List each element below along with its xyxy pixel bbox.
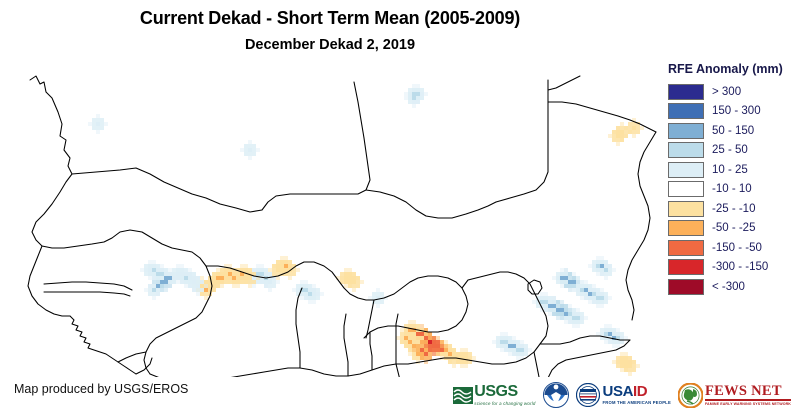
anomaly-cell (344, 280, 348, 284)
legend-label: -300 - -150 (712, 261, 768, 273)
legend-swatch (668, 181, 704, 197)
anomaly-cell (212, 280, 216, 284)
anomaly-cell (144, 288, 148, 292)
anomaly-cell (584, 280, 588, 284)
anomaly-cell (164, 268, 168, 272)
anomaly-cell (216, 284, 220, 288)
anomaly-cell (624, 126, 628, 130)
anomaly-cell (428, 344, 432, 348)
anomaly-cell (604, 292, 608, 296)
anomaly-cell (512, 352, 516, 356)
anomaly-cell (616, 130, 620, 134)
anomaly-cell (160, 284, 164, 288)
anomaly-cell (500, 336, 504, 340)
anomaly-cell (256, 280, 260, 284)
anomaly-cell (192, 288, 196, 292)
anomaly-cell (600, 260, 604, 264)
anomaly-cell (616, 364, 620, 368)
usaid-wordmark-id: ID (633, 384, 647, 399)
anomaly-cell (588, 296, 592, 300)
anomaly-cell (420, 348, 424, 352)
usgs-wordmark: USGS (474, 384, 535, 400)
anomaly-cell (192, 284, 196, 288)
anomaly-cell (276, 268, 280, 272)
anomaly-cell (420, 340, 424, 344)
anomaly-cell (516, 348, 520, 352)
anomaly-cell (96, 130, 100, 134)
anomaly-cell (156, 264, 160, 268)
anomaly-cell (412, 92, 416, 96)
anomaly-cell (164, 280, 168, 284)
anomaly-cell (628, 364, 632, 368)
anomaly-cell (584, 316, 588, 320)
anomaly-cell (376, 304, 380, 308)
anomaly-cell (508, 344, 512, 348)
anomaly-cell (464, 348, 468, 352)
anomaly-cell (636, 364, 640, 368)
anomaly-cell (312, 288, 316, 292)
anomaly-cell (416, 348, 420, 352)
anomaly-cell (224, 276, 228, 280)
anomaly-cell (220, 268, 224, 272)
anomaly-cell (352, 288, 356, 292)
anomaly-cell (248, 280, 252, 284)
anomaly-cell (520, 344, 524, 348)
anomaly-cell (188, 280, 192, 284)
anomaly-cell (456, 360, 460, 364)
anomaly-cell (412, 100, 416, 104)
agency-logos: USGS science for a changing world (453, 379, 791, 411)
anomaly-cell (372, 292, 376, 296)
anomaly-cell (424, 340, 428, 344)
anomaly-cell (268, 288, 272, 292)
anomaly-cell (616, 344, 620, 348)
anomaly-cell (212, 272, 216, 276)
anomaly-cell (200, 280, 204, 284)
anomaly-cell (440, 352, 444, 356)
map-canvas[interactable] (0, 62, 660, 377)
anomaly-cell (292, 288, 296, 292)
anomaly-cell (608, 332, 612, 336)
anomaly-cell (180, 264, 184, 268)
anomaly-cell (216, 276, 220, 280)
anomaly-cell (412, 96, 416, 100)
anomaly-cell (496, 336, 500, 340)
anomaly-cell (564, 308, 568, 312)
anomaly-cell (376, 300, 380, 304)
fews-net-logo[interactable]: FEWS NET FAMINE EARLY WARNING SYSTEMS NE… (678, 380, 791, 410)
anomaly-cell (576, 316, 580, 320)
anomaly-cell (192, 276, 196, 280)
anomaly-cell (436, 352, 440, 356)
anomaly-cell (576, 320, 580, 324)
anomaly-cell (464, 364, 468, 368)
anomaly-cell (432, 344, 436, 348)
legend-label: -50 - -25 (712, 222, 755, 234)
anomaly-cell (436, 336, 440, 340)
anomaly-cell (416, 84, 420, 88)
anomaly-cell (600, 328, 604, 332)
anomaly-cell (160, 280, 164, 284)
anomaly-cell (164, 284, 168, 288)
anomaly-cell (620, 364, 624, 368)
anomaly-cell (276, 264, 280, 268)
anomaly-cell (448, 344, 452, 348)
anomaly-cell (604, 264, 608, 268)
anomaly-cell (468, 356, 472, 360)
anomaly-cell (620, 122, 624, 126)
anomaly-cell (288, 272, 292, 276)
anomaly-cell (256, 264, 260, 268)
anomaly-cell (344, 276, 348, 280)
anomaly-cell (416, 100, 420, 104)
anomaly-cell (584, 284, 588, 288)
noaa-logo[interactable] (543, 380, 569, 410)
anomaly-cell (400, 328, 404, 332)
anomaly-cell (92, 126, 96, 130)
anomaly-cell (552, 300, 556, 304)
anomaly-cell (300, 296, 304, 300)
anomaly-cell (580, 284, 584, 288)
anomaly-cell (176, 280, 180, 284)
anomaly-cell (148, 292, 152, 296)
anomaly-cell (156, 268, 160, 272)
usaid-logo[interactable]: USAID FROM THE AMERICAN PEOPLE (576, 380, 671, 410)
anomaly-cell (620, 130, 624, 134)
anomaly-cell (152, 296, 156, 300)
anomaly-cell (204, 284, 208, 288)
anomaly-cell (220, 280, 224, 284)
anomaly-cell (604, 324, 608, 328)
anomaly-cell (400, 336, 404, 340)
anomaly-cell (244, 280, 248, 284)
anomaly-cell (296, 268, 300, 272)
anomaly-cell (312, 292, 316, 296)
anomaly-cell (512, 336, 516, 340)
anomaly-cell (560, 272, 564, 276)
anomaly-cell (572, 276, 576, 280)
anomaly-cell (508, 336, 512, 340)
anomaly-cell (592, 284, 596, 288)
anomaly-cell (200, 284, 204, 288)
anomaly-cell (320, 292, 324, 296)
anomaly-cell (620, 368, 624, 372)
anomaly-cell (424, 332, 428, 336)
anomaly-cell (428, 348, 432, 352)
anomaly-cell (184, 280, 188, 284)
anomaly-cell (152, 268, 156, 272)
anomaly-cell (596, 332, 600, 336)
anomaly-cell (408, 92, 412, 96)
anomaly-cell (312, 296, 316, 300)
anomaly-cell (624, 352, 628, 356)
anomaly-cell (624, 336, 628, 340)
anomaly-cell (564, 280, 568, 284)
anomaly-cell (572, 280, 576, 284)
anomaly-cell (168, 268, 172, 272)
anomaly-cell (612, 340, 616, 344)
anomaly-cell (576, 308, 580, 312)
usaid-wordmark-usa: USA (603, 384, 633, 399)
anomaly-cell (228, 276, 232, 280)
anomaly-cell (408, 324, 412, 328)
anomaly-cell (524, 348, 528, 352)
anomaly-cell (272, 284, 276, 288)
anomaly-cell (572, 284, 576, 288)
anomaly-cell (260, 272, 264, 276)
anomaly-cell (232, 284, 236, 288)
anomaly-cell (348, 284, 352, 288)
anomaly-cell (576, 324, 580, 328)
anomaly-cell (288, 260, 292, 264)
anomaly-cell (616, 340, 620, 344)
anomaly-cell (632, 368, 636, 372)
anomaly-cell (556, 280, 560, 284)
anomaly-cell (568, 320, 572, 324)
anomaly-cell (560, 308, 564, 312)
anomaly-cell (196, 284, 200, 288)
anomaly-cell (148, 264, 152, 268)
anomaly-cell (568, 308, 572, 312)
anomaly-cell (568, 312, 572, 316)
anomaly-cell (152, 288, 156, 292)
anomaly-cell (548, 304, 552, 308)
anomaly-cell (300, 284, 304, 288)
anomaly-cell (552, 276, 556, 280)
anomaly-cell (516, 352, 520, 356)
anomaly-cell (148, 276, 152, 280)
anomaly-cell (188, 272, 192, 276)
anomaly-cell (420, 96, 424, 100)
anomaly-cell (604, 296, 608, 300)
anomaly-cell (244, 268, 248, 272)
fews-divider (705, 399, 791, 401)
anomaly-cell (600, 256, 604, 260)
anomaly-cell (216, 272, 220, 276)
anomaly-cell (568, 316, 572, 320)
anomaly-cell (568, 276, 572, 280)
anomaly-cell (616, 126, 620, 130)
anomaly-cell (608, 328, 612, 332)
anomaly-cell (508, 352, 512, 356)
usaid-tagline: FROM THE AMERICAN PEOPLE (603, 401, 671, 405)
anomaly-cell (100, 122, 104, 126)
legend-swatch (668, 279, 704, 295)
anomaly-cell (188, 284, 192, 288)
anomaly-cell (304, 292, 308, 296)
anomaly-cell (572, 316, 576, 320)
anomaly-cell (424, 356, 428, 360)
anomaly-cell (608, 324, 612, 328)
anomaly-cell (148, 288, 152, 292)
anomaly-cell (264, 280, 268, 284)
anomaly-cell (560, 284, 564, 288)
anomaly-cell (284, 260, 288, 264)
fews-tagline: FAMINE EARLY WARNING SYSTEMS NETWORK (705, 403, 791, 407)
anomaly-cell (416, 332, 420, 336)
rfe-anomaly-map-page: Current Dekad - Short Term Mean (2005-20… (0, 0, 797, 413)
anomaly-cell (252, 148, 256, 152)
anomaly-cell (280, 268, 284, 272)
anomaly-cell (432, 336, 436, 340)
anomaly-cell (596, 296, 600, 300)
anomaly-cell (556, 272, 560, 276)
anomaly-cell (168, 276, 172, 280)
anomaly-cell (248, 140, 252, 144)
anomaly-cell (264, 284, 268, 288)
anomaly-cell (448, 348, 452, 352)
anomaly-cell (504, 340, 508, 344)
anomaly-cell (624, 364, 628, 368)
page-title: Current Dekad - Short Term Mean (2005-20… (0, 8, 660, 29)
legend-swatch (668, 240, 704, 256)
anomaly-cell (620, 352, 624, 356)
usgs-logo[interactable]: USGS science for a changing world (453, 380, 535, 410)
anomaly-cell (248, 152, 252, 156)
anomaly-cell (280, 264, 284, 268)
anomaly-cell (408, 336, 412, 340)
anomaly-cell (164, 288, 168, 292)
anomaly-cell (144, 272, 148, 276)
anomaly-cell (620, 356, 624, 360)
legend-row: > 300 (662, 82, 797, 102)
anomaly-cell (592, 292, 596, 296)
anomaly-cell (396, 336, 400, 340)
anomaly-cell (576, 288, 580, 292)
anomaly-cell (156, 276, 160, 280)
anomaly-cell (152, 292, 156, 296)
anomaly-cell (552, 308, 556, 312)
anomaly-cell (188, 276, 192, 280)
anomaly-cell (500, 344, 504, 348)
anomaly-cell (516, 340, 520, 344)
anomaly-cell (304, 280, 308, 284)
anomaly-cell (424, 92, 428, 96)
anomaly-cell (620, 336, 624, 340)
anomaly-cell (568, 272, 572, 276)
anomaly-cell (436, 344, 440, 348)
anomaly-cell (420, 352, 424, 356)
anomaly-cell (632, 134, 636, 138)
anomaly-cell (444, 352, 448, 356)
usaid-seal-icon (576, 383, 600, 407)
anomaly-cell (620, 360, 624, 364)
anomaly-cell (144, 268, 148, 272)
anomaly-cell (416, 88, 420, 92)
anomaly-cell (412, 344, 416, 348)
anomaly-cell (220, 284, 224, 288)
anomaly-cell (356, 280, 360, 284)
anomaly-cell (556, 308, 560, 312)
anomaly-cell (544, 296, 548, 300)
anomaly-cell (620, 134, 624, 138)
anomaly-cell (156, 284, 160, 288)
anomaly-cell (528, 348, 532, 352)
anomaly-cell (344, 272, 348, 276)
anomaly-cell (216, 280, 220, 284)
anomaly-cell (400, 340, 404, 344)
anomaly-cell (408, 96, 412, 100)
anomaly-cell (184, 284, 188, 288)
legend-label: -150 - -50 (712, 242, 762, 254)
anomaly-cell (452, 352, 456, 356)
anomaly-cell (620, 126, 624, 130)
anomaly-cell (556, 276, 560, 280)
anomaly-cell (368, 296, 372, 300)
anomaly-cell (592, 260, 596, 264)
anomaly-cell (256, 148, 260, 152)
anomaly-cell (416, 336, 420, 340)
anomaly-cell (608, 340, 612, 344)
anomaly-cell (420, 92, 424, 96)
anomaly-cell (316, 296, 320, 300)
anomaly-cell (616, 360, 620, 364)
anomaly-cell (356, 276, 360, 280)
anomaly-cell (224, 272, 228, 276)
anomaly-cell (600, 288, 604, 292)
anomaly-cell (260, 280, 264, 284)
anomaly-cell (284, 264, 288, 268)
anomaly-cell (560, 316, 564, 320)
anomaly-cell (152, 284, 156, 288)
anomaly-cell (408, 348, 412, 352)
anomaly-cell (340, 272, 344, 276)
map-legend: RFE Anomaly (mm) > 300150 - 30050 - 1502… (662, 62, 797, 307)
anomaly-cell (460, 348, 464, 352)
anomaly-cell (240, 264, 244, 268)
anomaly-cell (504, 344, 508, 348)
anomaly-cell (612, 344, 616, 348)
anomaly-cell (348, 280, 352, 284)
anomaly-cell (172, 280, 176, 284)
anomaly-cell (596, 268, 600, 272)
anomaly-cell (424, 336, 428, 340)
anomaly-cell (548, 308, 552, 312)
anomaly-cell (240, 148, 244, 152)
anomaly-cell (572, 288, 576, 292)
anomaly-cell (248, 268, 252, 272)
anomaly-cell (288, 276, 292, 280)
anomaly-cell (548, 296, 552, 300)
anomaly-cell (544, 300, 548, 304)
anomaly-cell (172, 276, 176, 280)
anomaly-cell (100, 126, 104, 130)
anomaly-cell (408, 340, 412, 344)
legend-label: < -300 (712, 281, 745, 293)
anomaly-cell (304, 296, 308, 300)
anomaly-cell (172, 272, 176, 276)
anomaly-cell (596, 304, 600, 308)
anomaly-cell (248, 148, 252, 152)
anomaly-cell (244, 144, 248, 148)
legend-row: 10 - 25 (662, 160, 797, 180)
anomaly-cell (460, 360, 464, 364)
anomaly-cell (428, 336, 432, 340)
noaa-seal-icon (543, 382, 569, 408)
anomaly-cell (232, 276, 236, 280)
anomaly-cell (176, 276, 180, 280)
anomaly-cell (444, 340, 448, 344)
anomaly-cell (624, 134, 628, 138)
anomaly-cell (272, 280, 276, 284)
anomaly-cell (420, 356, 424, 360)
anomaly-cell (516, 344, 520, 348)
anomaly-cell (504, 332, 508, 336)
anomaly-cell (580, 320, 584, 324)
anomaly-cell (568, 284, 572, 288)
anomaly-cell (236, 272, 240, 276)
anomaly-cell (560, 268, 564, 272)
